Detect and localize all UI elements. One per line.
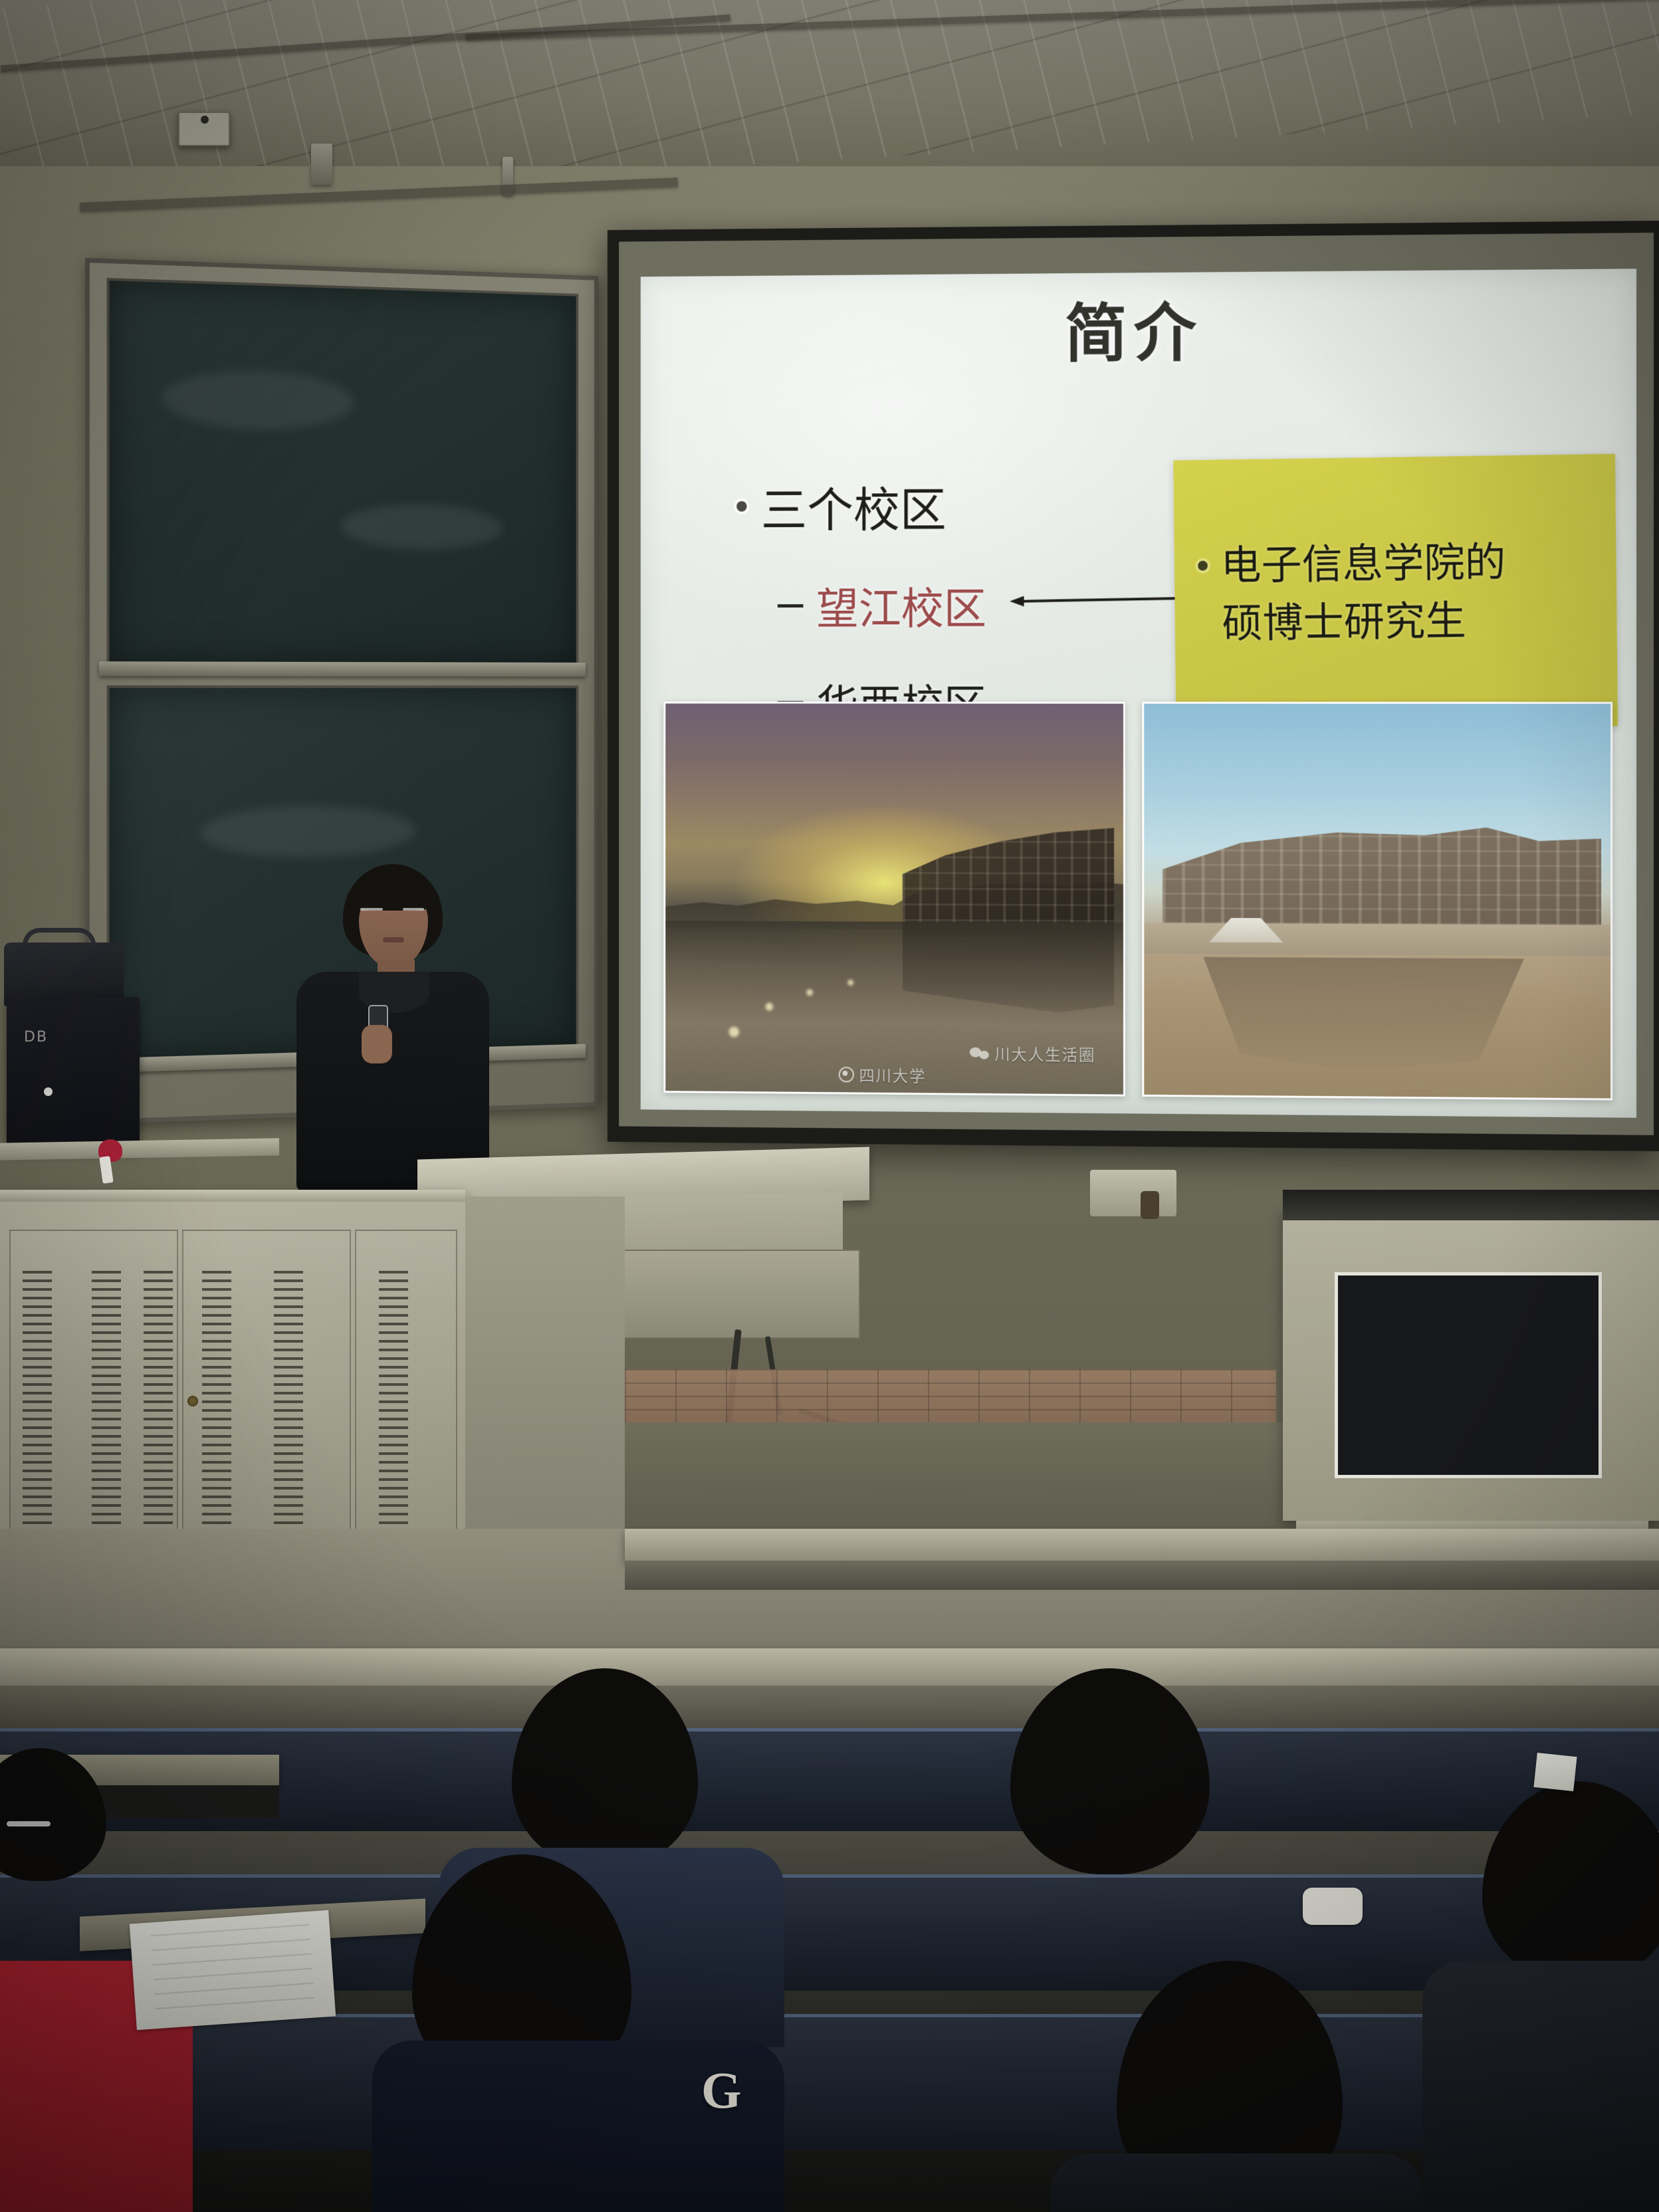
step-riser [625, 1561, 1659, 1590]
daytime-campus-building-photo [1142, 702, 1612, 1101]
bullet-wangjiang-text: 望江校区 [816, 574, 986, 637]
bullet-wangjiang: 望江校区 [778, 574, 1150, 637]
bullet-level1-text: 三个校区 [761, 471, 946, 540]
monitor-shadow-top [1283, 1190, 1659, 1220]
callout-line-2: 硕博士研究生 [1198, 590, 1600, 653]
chalk-rail-upper [99, 661, 586, 677]
watermark-sichuan-university: 四川大学 [839, 1063, 927, 1086]
watermark-sichuan-university-text: 四川大学 [859, 1063, 927, 1086]
presentation-slide: 简介 三个校区 望江校区 华西校区 江安校区 [641, 269, 1636, 1117]
sunset-campus-photo: 四川大学 川大人生活圈 [663, 702, 1125, 1097]
ceiling-pipe [311, 144, 332, 185]
bullet-dot-icon [736, 500, 746, 511]
callout-line-2-text: 硕博士研究生 [1222, 592, 1466, 653]
watermark-chuanda-life-text: 川大人生活圈 [994, 1042, 1095, 1065]
watermark-ring-icon [839, 1066, 854, 1082]
speaker-logo: DB [24, 1029, 48, 1046]
callout-dot-icon [1198, 561, 1208, 571]
notebook-paper [130, 1910, 336, 2031]
slide-photo-row: 四川大学 川大人生活圈 [663, 702, 1612, 1101]
wechat-bubbles-icon [970, 1046, 989, 1060]
crt-monitor[interactable] [1283, 1208, 1659, 1521]
blackboard-pane-upper [107, 278, 579, 667]
glasses-icon [7, 1821, 51, 1826]
bench-row [0, 2014, 1659, 2150]
callout-line-1-text: 电子信息学院的 [1220, 533, 1506, 595]
callout-line-1: 电子信息学院的 [1198, 532, 1599, 595]
student-shoulders [1422, 1961, 1659, 2212]
wall-mounted-sensor [1090, 1170, 1176, 1216]
glasses-icon [360, 908, 383, 911]
presenter [284, 864, 497, 1183]
paper-sheet [1533, 1753, 1577, 1791]
glasses-icon [403, 908, 424, 911]
brick-wainscot [625, 1369, 1276, 1422]
bullet-dash-icon [778, 604, 804, 608]
bullet-level1: 三个校区 [736, 470, 1150, 540]
yellow-callout-box: 电子信息学院的 硕博士研究生 [1173, 454, 1618, 730]
ceiling-grid [0, 0, 1659, 166]
lecture-hall-photo: 简介 三个校区 望江校区 华西校区 江安校区 [0, 0, 1659, 2212]
step-riser [0, 1686, 1659, 1729]
ceiling-light-fixture [178, 112, 230, 146]
tissue-on-bench [1303, 1888, 1363, 1925]
cabinet-lock-icon[interactable] [187, 1396, 198, 1406]
amplifier-speaker: DB [7, 997, 140, 1150]
crt-monitor-screen [1335, 1272, 1602, 1478]
power-led-icon [44, 1087, 53, 1096]
projection-screen: 简介 三个校区 望江校区 华西校区 江安校区 [608, 221, 1659, 1151]
jacket-logo-letter: G [701, 2060, 742, 2120]
watermark-chuanda-life: 川大人生活圈 [970, 1042, 1095, 1065]
cable-conduit-box [618, 1250, 860, 1339]
step-tread [625, 1529, 1659, 1561]
sensor-eye-icon [1141, 1191, 1159, 1219]
student-shoulders [1050, 2154, 1422, 2212]
step-tread [0, 1648, 1659, 1686]
slide-title: 简介 [641, 298, 1636, 368]
